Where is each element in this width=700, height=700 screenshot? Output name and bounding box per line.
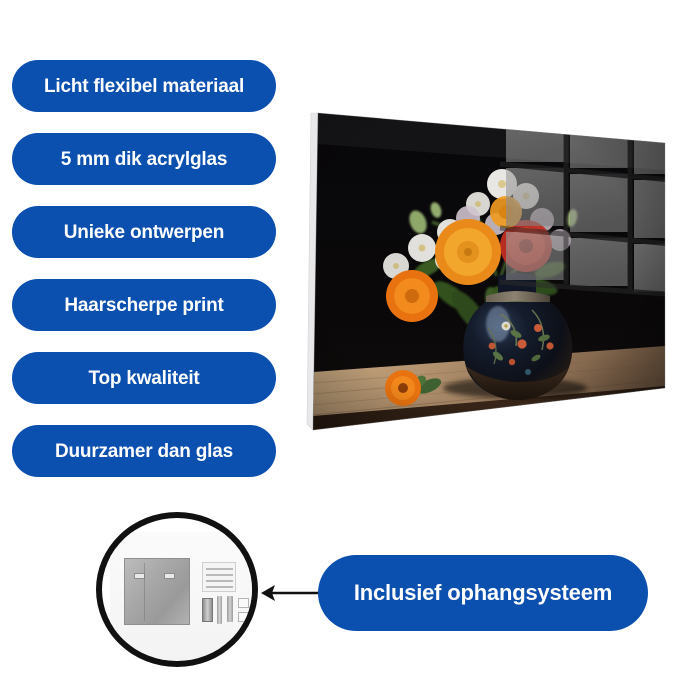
feature-pill-haarscherpe-print[interactable]: Haarscherpe print (12, 279, 276, 331)
callout-arrow-icon (255, 575, 325, 611)
acrylic-panel-svg (300, 100, 690, 450)
callout-pill-label: Inclusief ophangsysteem (354, 582, 612, 604)
feature-pill-5-mm-dik-acrylglas[interactable]: 5 mm dik acrylglas (12, 133, 276, 185)
product-feature-graphic: Licht flexibel materiaal 5 mm dik acrylg… (0, 0, 700, 700)
feature-pill-label: 5 mm dik acrylglas (61, 150, 227, 169)
acrylic-glass-panel (300, 100, 690, 450)
feature-pill-licht-flexibel-materiaal[interactable]: Licht flexibel materiaal (12, 60, 276, 112)
instruction-leaflet-icon (202, 562, 236, 592)
plate-hook-right-icon (164, 573, 175, 579)
artwork-face (300, 100, 690, 450)
feature-pill-duurzamer-dan-glas[interactable]: Duurzamer dan glas (12, 425, 276, 477)
callout-pill-inclusief-ophangsysteem[interactable]: Inclusief ophangsysteem (318, 555, 648, 631)
plate-centerline (144, 563, 145, 621)
feature-pill-top-kwaliteit[interactable]: Top kwaliteit (12, 352, 276, 404)
feature-pill-label: Top kwaliteit (88, 369, 199, 388)
mounting-kit-circle (96, 512, 258, 667)
spacer-icon (238, 612, 249, 622)
spacer-icon (238, 598, 249, 608)
feature-pill-label: Licht flexibel materiaal (44, 77, 244, 96)
feature-pill-label: Duurzamer dan glas (55, 442, 233, 461)
feature-pill-unieke-ontwerpen[interactable]: Unieke ontwerpen (12, 206, 276, 258)
screw-icon (217, 596, 222, 624)
screw-icon (227, 596, 233, 622)
feature-pill-list: Licht flexibel materiaal 5 mm dik acrylg… (12, 60, 276, 498)
aluminium-mounting-plate-icon (124, 558, 190, 625)
wall-anchor-icon (202, 598, 213, 622)
mounting-kit-photo (110, 532, 256, 660)
feature-pill-label: Haarscherpe print (64, 296, 223, 315)
feature-pill-label: Unieke ontwerpen (64, 223, 224, 242)
